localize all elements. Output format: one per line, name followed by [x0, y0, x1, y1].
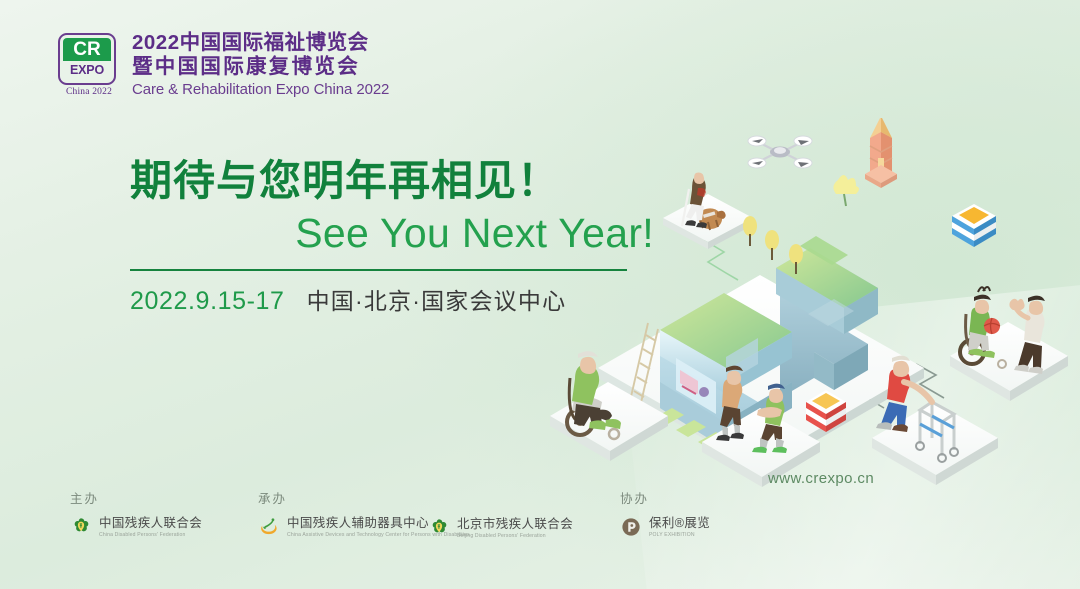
sponsor-beijing-federation: 北京市残疾人联合会 Beijing Disabled Persons' Fede…	[428, 517, 573, 539]
logo-expo-block: EXPO	[63, 61, 111, 80]
sponsor-organizer: 主办 中国残疾人联合会 China Disabled Persons' Fede…	[70, 488, 202, 538]
event-title-cn-line1: 2022中国国际福祉博览会	[132, 31, 389, 55]
logo-cr-text: CR	[73, 40, 100, 59]
tower-monument-icon	[865, 118, 897, 188]
cdpf-flower-icon	[70, 516, 92, 538]
sponsor-name-cn: 保利®展览	[649, 516, 710, 530]
hero-copy: 期待与您明年再相见！ See You Next Year! 2022.9.15-…	[130, 158, 660, 316]
sponsor-role-label: 协办	[620, 488, 710, 507]
sponsor-name-en: Beijing Disabled Persons' Federation	[457, 533, 573, 539]
bdpf-flower-icon	[428, 517, 450, 539]
sponsor-footer: 主办 中国残疾人联合会 China Disabled Persons' Fede…	[0, 488, 1080, 558]
sponsor-name-cn: 北京市残疾人联合会	[457, 517, 573, 531]
date-venue-row: 2022.9.15-17 中国·北京·国家会议中心	[130, 282, 660, 316]
event-date: 2022.9.15-17	[130, 287, 285, 316]
brand-lockup: CR EXPO China 2022 2022中国国际福祉博览会 暨中国国际康复…	[58, 30, 389, 100]
sponsor-name-cn: 中国残疾人联合会	[99, 516, 202, 530]
divider-rule	[130, 269, 627, 272]
event-venue: 中国·北京·国家会议中心	[307, 282, 567, 316]
rooftop-trees	[743, 175, 859, 274]
cr-expo-logo: CR EXPO China 2022	[58, 33, 120, 97]
event-title-en: Care & Rehabilitation Expo China 2022	[132, 80, 389, 100]
sponsor-supporter: 协办 保利®展览 POLY EXHIBITION	[620, 488, 710, 538]
stacked-boxes-blue	[952, 204, 996, 247]
event-title-cn-line2: 暨中国国际康复博览会	[132, 55, 389, 79]
logo-caption: China 2022	[58, 87, 120, 97]
headline-chinese: 期待与您明年再相见！	[130, 158, 660, 203]
poster-canvas: CR EXPO China 2022 2022中国国际福祉博览会 暨中国国际康复…	[0, 0, 1080, 589]
drone-icon	[748, 136, 812, 168]
cadtc-swoosh-icon	[258, 516, 280, 538]
sponsor-role-label: 承办	[258, 488, 470, 507]
sponsor-name-en: POLY EXHIBITION	[649, 532, 710, 538]
website-url[interactable]: www.crexpo.cn	[768, 470, 874, 487]
sponsor-name-en: China Disabled Persons' Federation	[99, 532, 202, 538]
logo-expo-text: EXPO	[70, 64, 104, 77]
event-title-group: 2022中国国际福祉博览会 暨中国国际康复博览会 Care & Rehabili…	[132, 30, 389, 100]
headline-english: See You Next Year!	[130, 210, 660, 257]
poly-p-icon	[620, 516, 642, 538]
sponsor-role-label: 主办	[70, 488, 202, 507]
guide-dog-walker-platform	[663, 173, 753, 249]
wheelchair-basketball-platform	[950, 287, 1068, 401]
logo-cr-block: CR	[63, 38, 111, 61]
